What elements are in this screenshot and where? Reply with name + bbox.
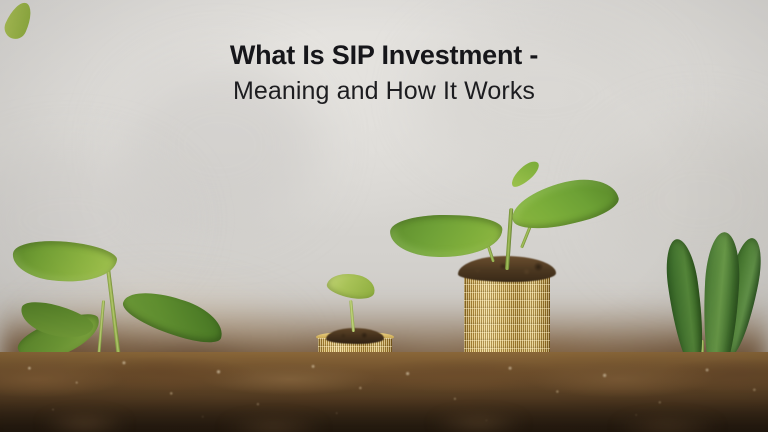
headline-line-1: What Is SIP Investment - (0, 38, 768, 72)
headline-line-2: Meaning and How It Works (0, 74, 768, 108)
banner-image: What Is SIP Investment - Meaning and How… (0, 0, 768, 432)
headline: What Is SIP Investment - Meaning and How… (0, 38, 768, 108)
soil-mound (326, 328, 384, 344)
soil-foreground-blur (0, 406, 768, 432)
